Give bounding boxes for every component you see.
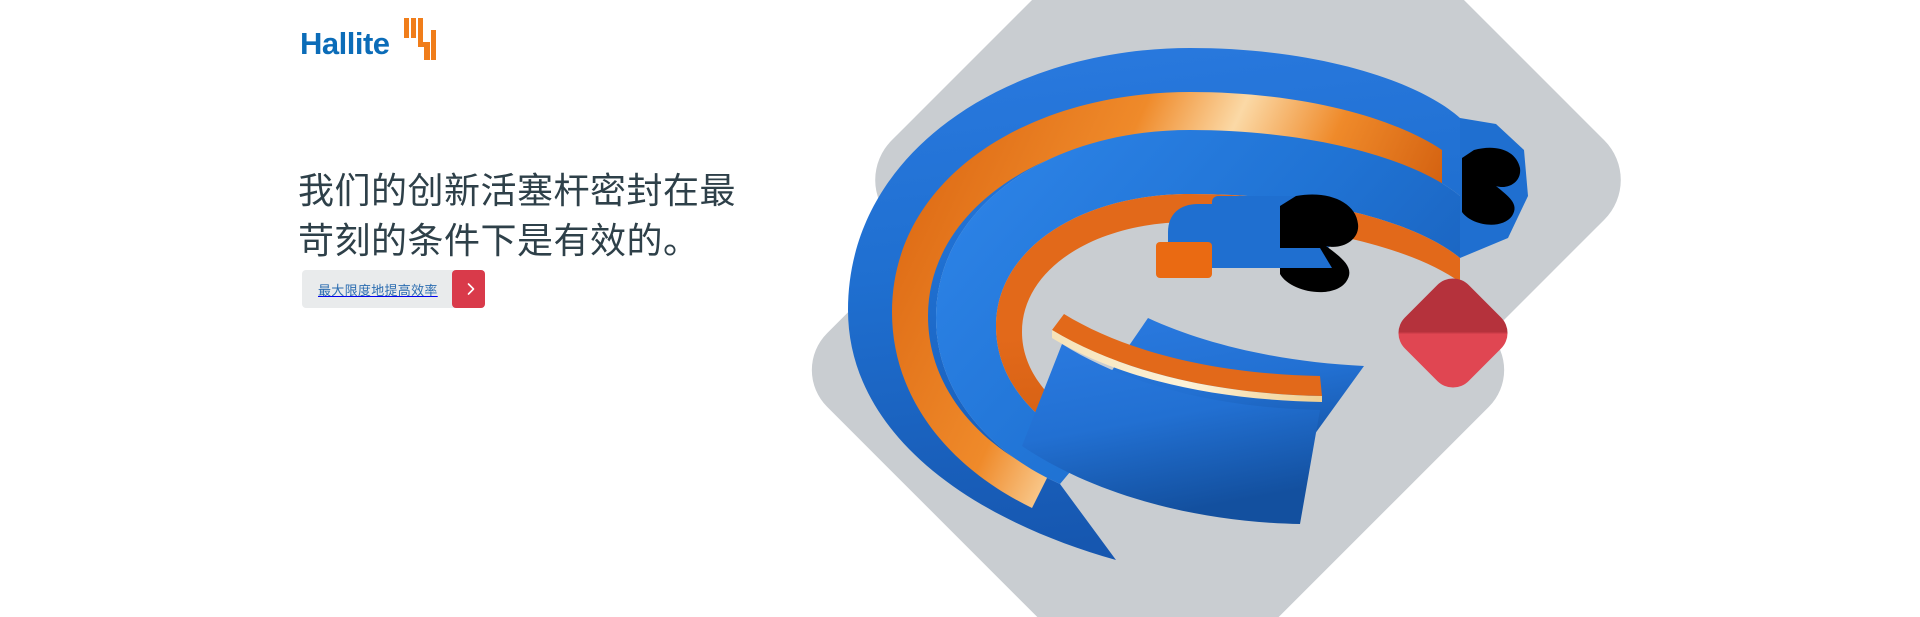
- headline-line-1: 我们的创新活塞杆密封在最: [298, 166, 768, 216]
- hallite-stepped-bars-icon: [404, 18, 438, 60]
- cta-button[interactable]: 最大限度地提高效率: [302, 270, 485, 308]
- hero-headline: 我们的创新活塞杆密封在最 苛刻的条件下是有效的。: [298, 166, 768, 266]
- cta-label: 最大限度地提高效率: [302, 270, 452, 308]
- headline-line-2: 苛刻的条件下是有效的。: [298, 216, 768, 266]
- chevron-right-icon[interactable]: [452, 270, 485, 308]
- product-artwork: [760, 0, 1920, 617]
- hero-banner: Hallite 我们的创新活塞杆密封在最 苛刻的条件下是有效的。 最大限度地提高…: [0, 0, 1920, 617]
- logo-wordmark: Hallite: [300, 28, 390, 59]
- hero-content: Hallite 我们的创新活塞杆密封在最 苛刻的条件下是有效的。 最大限度地提高…: [0, 0, 800, 617]
- hallite-logo[interactable]: Hallite: [300, 18, 460, 66]
